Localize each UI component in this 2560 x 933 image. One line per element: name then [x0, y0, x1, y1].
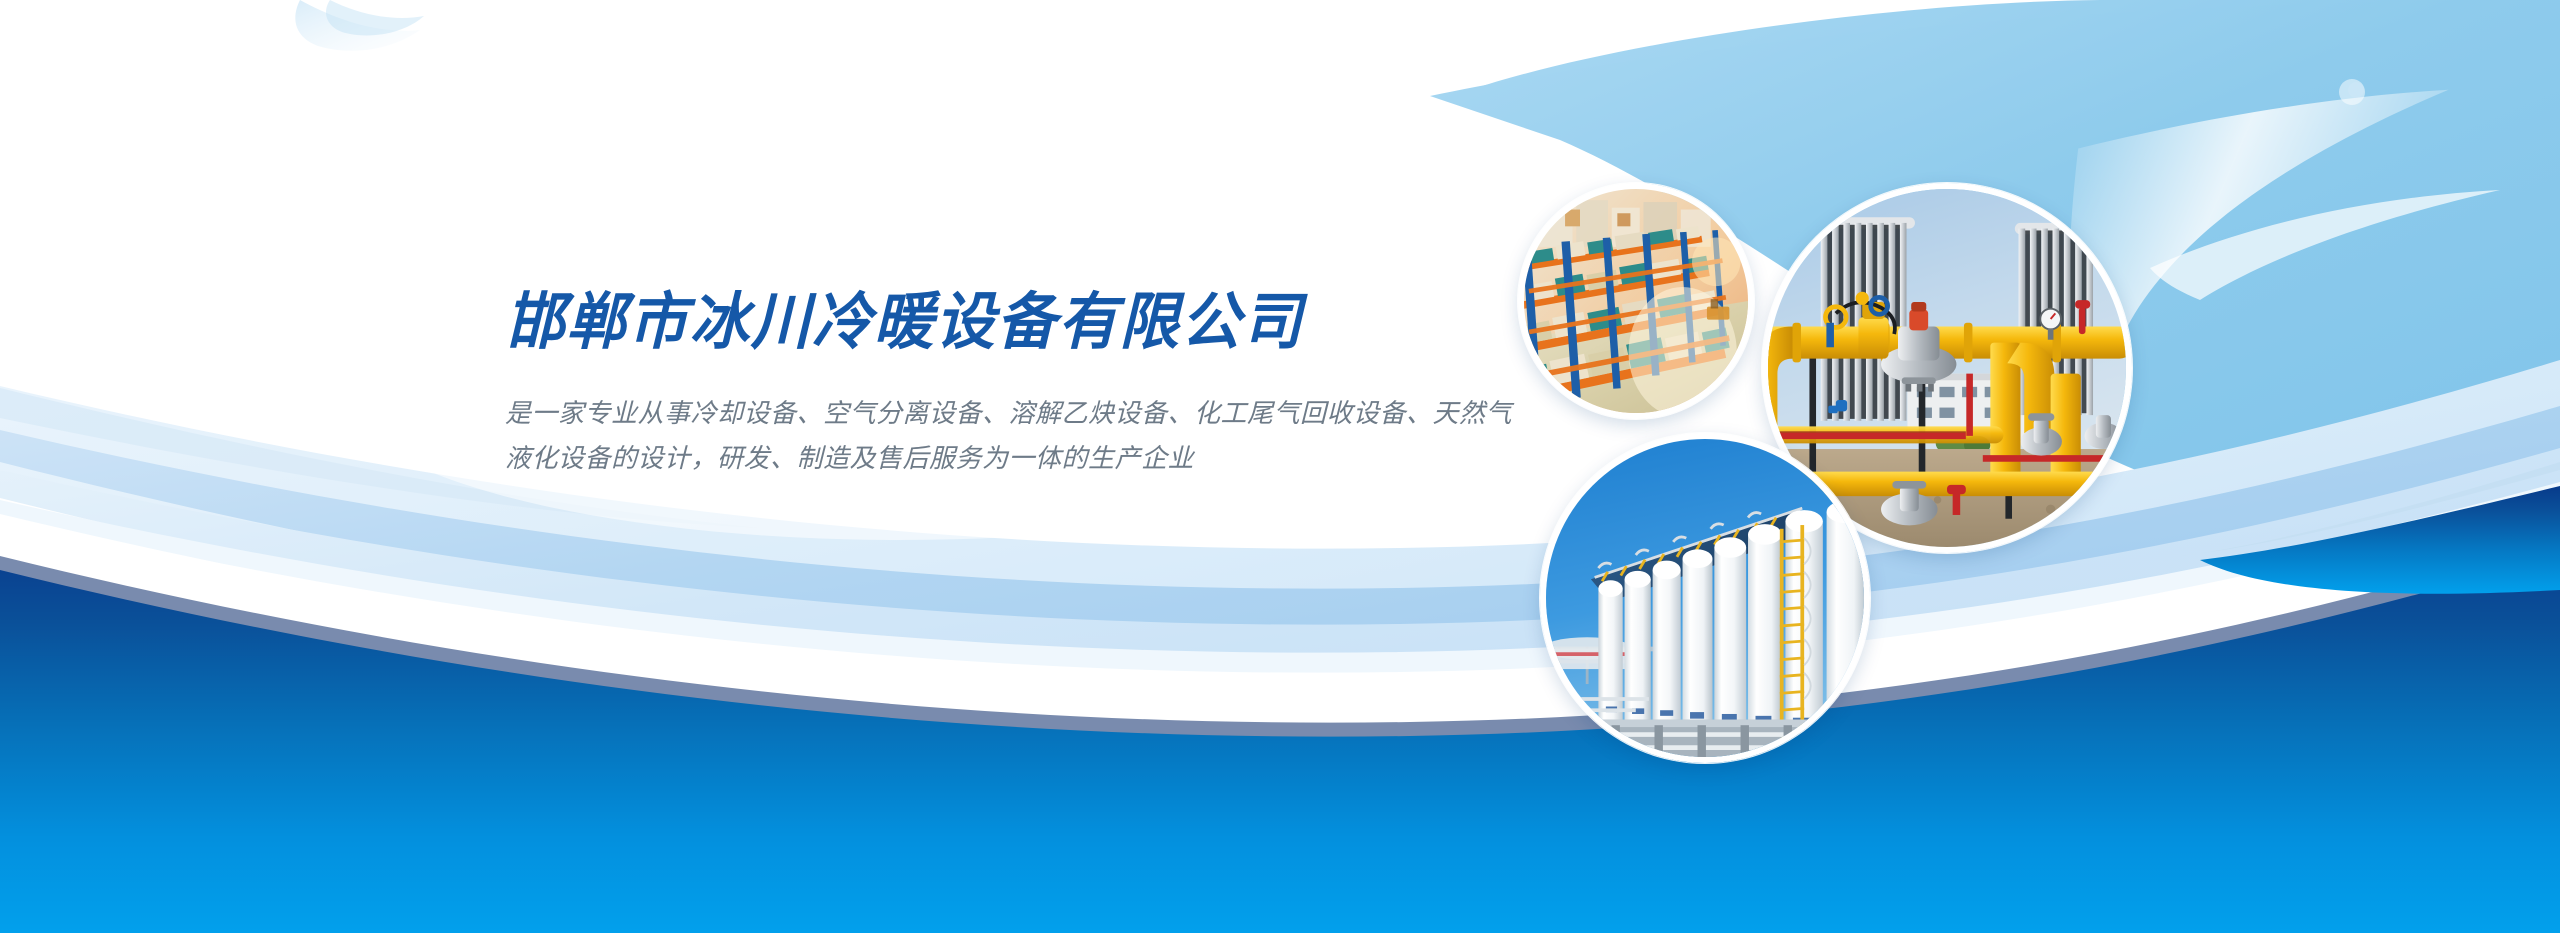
page-title: 邯郸市冰川冷暖设备有限公司 — [505, 290, 1465, 355]
photo-circle-cryogenic-tanks — [1540, 433, 1870, 763]
warehouse-illustration — [1524, 189, 1748, 413]
company-description-line-1: 是一家专业从事冷却设备、空气分离设备、溶解乙炔设备、化工尾气回收设备、天然气 — [505, 391, 1465, 436]
photo-circle-warehouse-racks — [1518, 183, 1754, 419]
gloss-bubble-2 — [2348, 82, 2364, 98]
company-banner: 邯郸市冰川冷暖设备有限公司 是一家专业从事冷却设备、空气分离设备、溶解乙炔设备、… — [0, 0, 2560, 933]
cryogenic-tanks-illustration — [1546, 439, 1864, 757]
banner-text-block: 邯郸市冰川冷暖设备有限公司 是一家专业从事冷却设备、空气分离设备、溶解乙炔设备、… — [505, 290, 1505, 481]
photo-collage — [1510, 175, 2150, 775]
company-description: 是一家专业从事冷却设备、空气分离设备、溶解乙炔设备、化工尾气回收设备、天然气 液… — [505, 391, 1465, 480]
company-description-line-2: 液化设备的设计，研发、制造及售后服务为一体的生产企业 — [505, 436, 1465, 481]
